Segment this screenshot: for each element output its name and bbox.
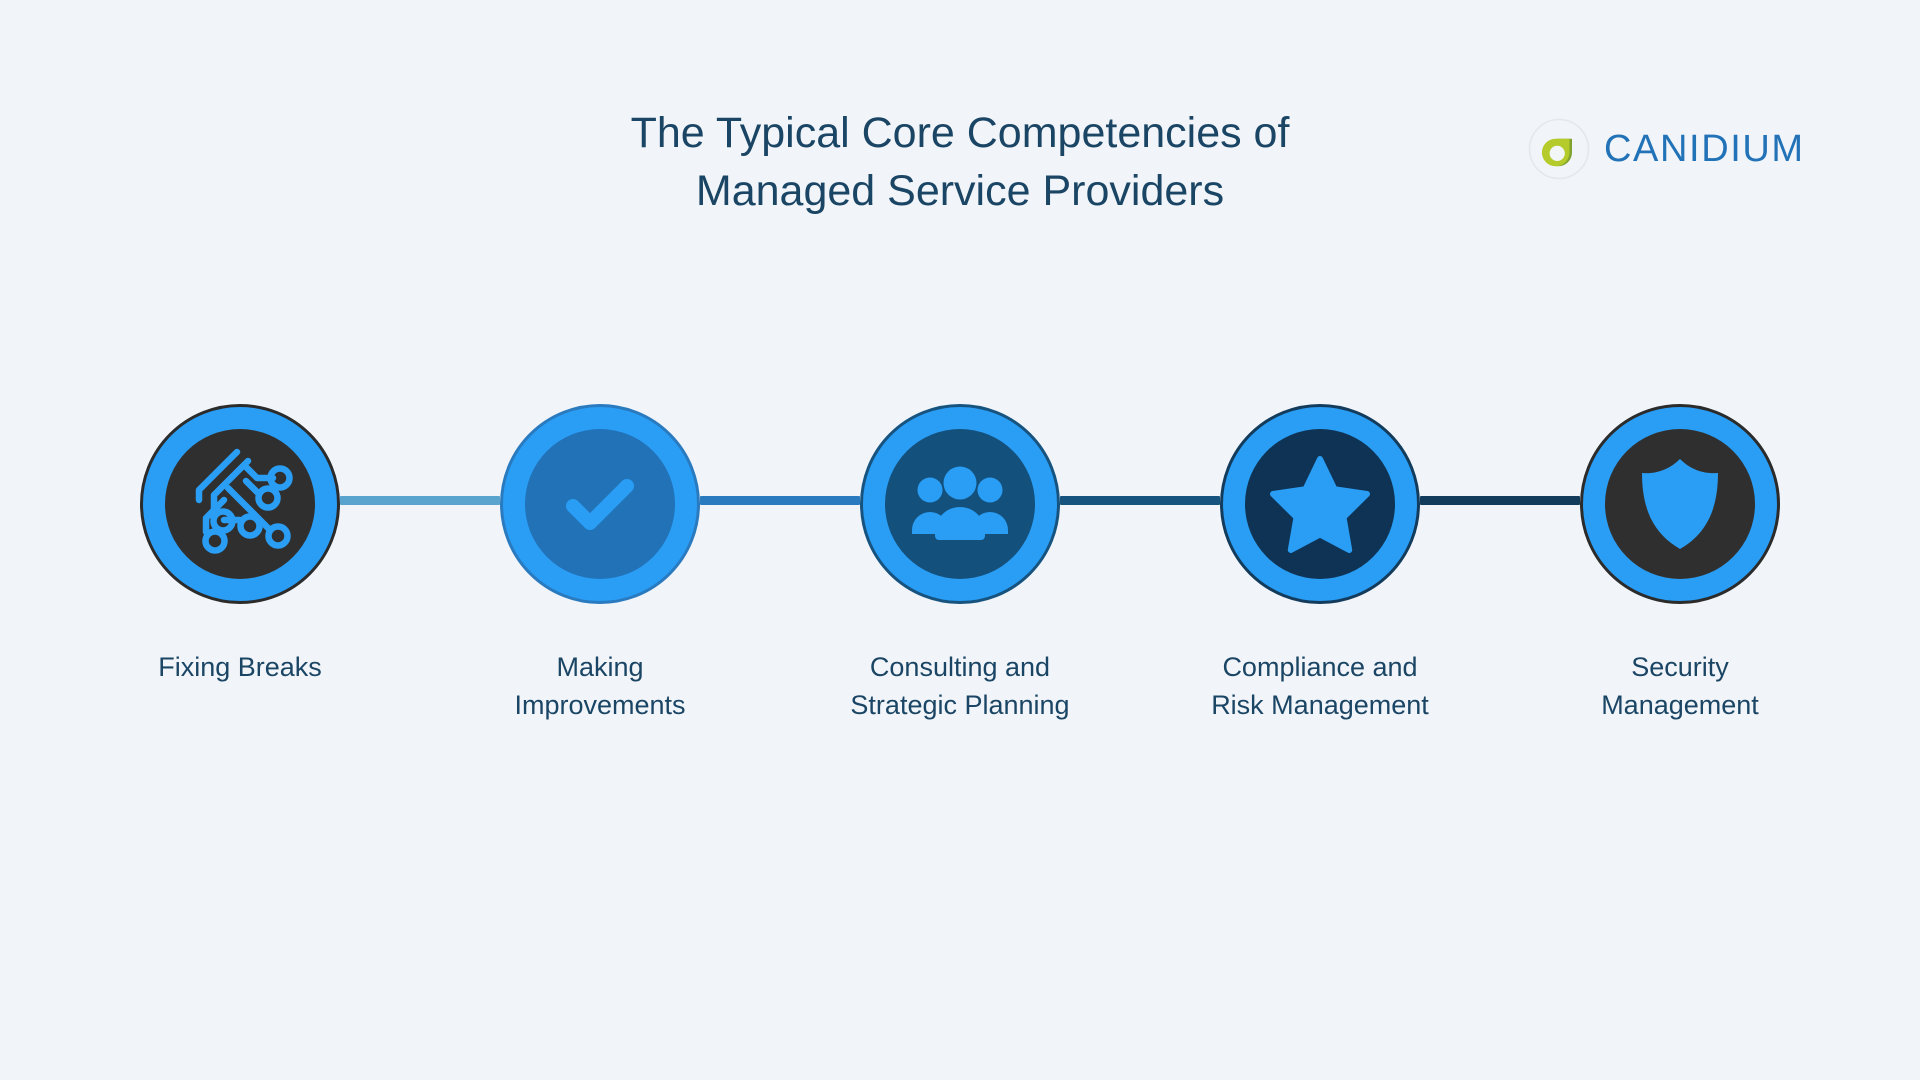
- node-ring: [500, 404, 700, 604]
- node-ring: [140, 404, 340, 604]
- timeline-label: Consulting and Strategic Planning: [815, 648, 1105, 725]
- timeline-connector: [340, 496, 500, 505]
- canidium-drop-leaf-icon: [1528, 118, 1590, 180]
- canidium-logo: CANIDIUM: [1528, 118, 1805, 180]
- timeline-label: Security Management: [1535, 648, 1825, 725]
- check-circle-icon: [557, 461, 643, 547]
- timeline-labels: Fixing Breaks Making Improvements Consul…: [0, 648, 1920, 768]
- node-ring: [860, 404, 1060, 604]
- timeline-node-fixing-breaks[interactable]: [140, 404, 340, 604]
- node-inner: [1605, 429, 1755, 579]
- timeline-node-making-improvements[interactable]: [500, 404, 700, 604]
- timeline-label: Making Improvements: [455, 648, 745, 725]
- timeline-connector: [1420, 496, 1580, 505]
- node-inner: [165, 429, 315, 579]
- timeline-connector: [700, 496, 860, 505]
- competency-timeline: [140, 404, 1780, 604]
- timeline-node-compliance-risk-management[interactable]: [1220, 404, 1420, 604]
- page-title-text: The Typical Core Competencies of Managed…: [510, 104, 1410, 220]
- timeline-connector: [1060, 496, 1220, 505]
- node-ring: [1220, 404, 1420, 604]
- timeline-node-security-management[interactable]: [1580, 404, 1780, 604]
- node-inner: [1245, 429, 1395, 579]
- star-icon: [1269, 455, 1371, 553]
- node-inner: [525, 429, 675, 579]
- node-inner: [885, 429, 1035, 579]
- shield-icon: [1636, 455, 1724, 553]
- people-group-icon: [910, 464, 1010, 544]
- logo-wordmark: CANIDIUM: [1604, 130, 1805, 168]
- timeline-node-consulting-strategic-planning[interactable]: [860, 404, 1060, 604]
- node-ring: [1580, 404, 1780, 604]
- timeline-label: Fixing Breaks: [95, 648, 385, 686]
- timeline-label: Compliance and Risk Management: [1175, 648, 1465, 725]
- circuit-board-icon: [184, 448, 296, 560]
